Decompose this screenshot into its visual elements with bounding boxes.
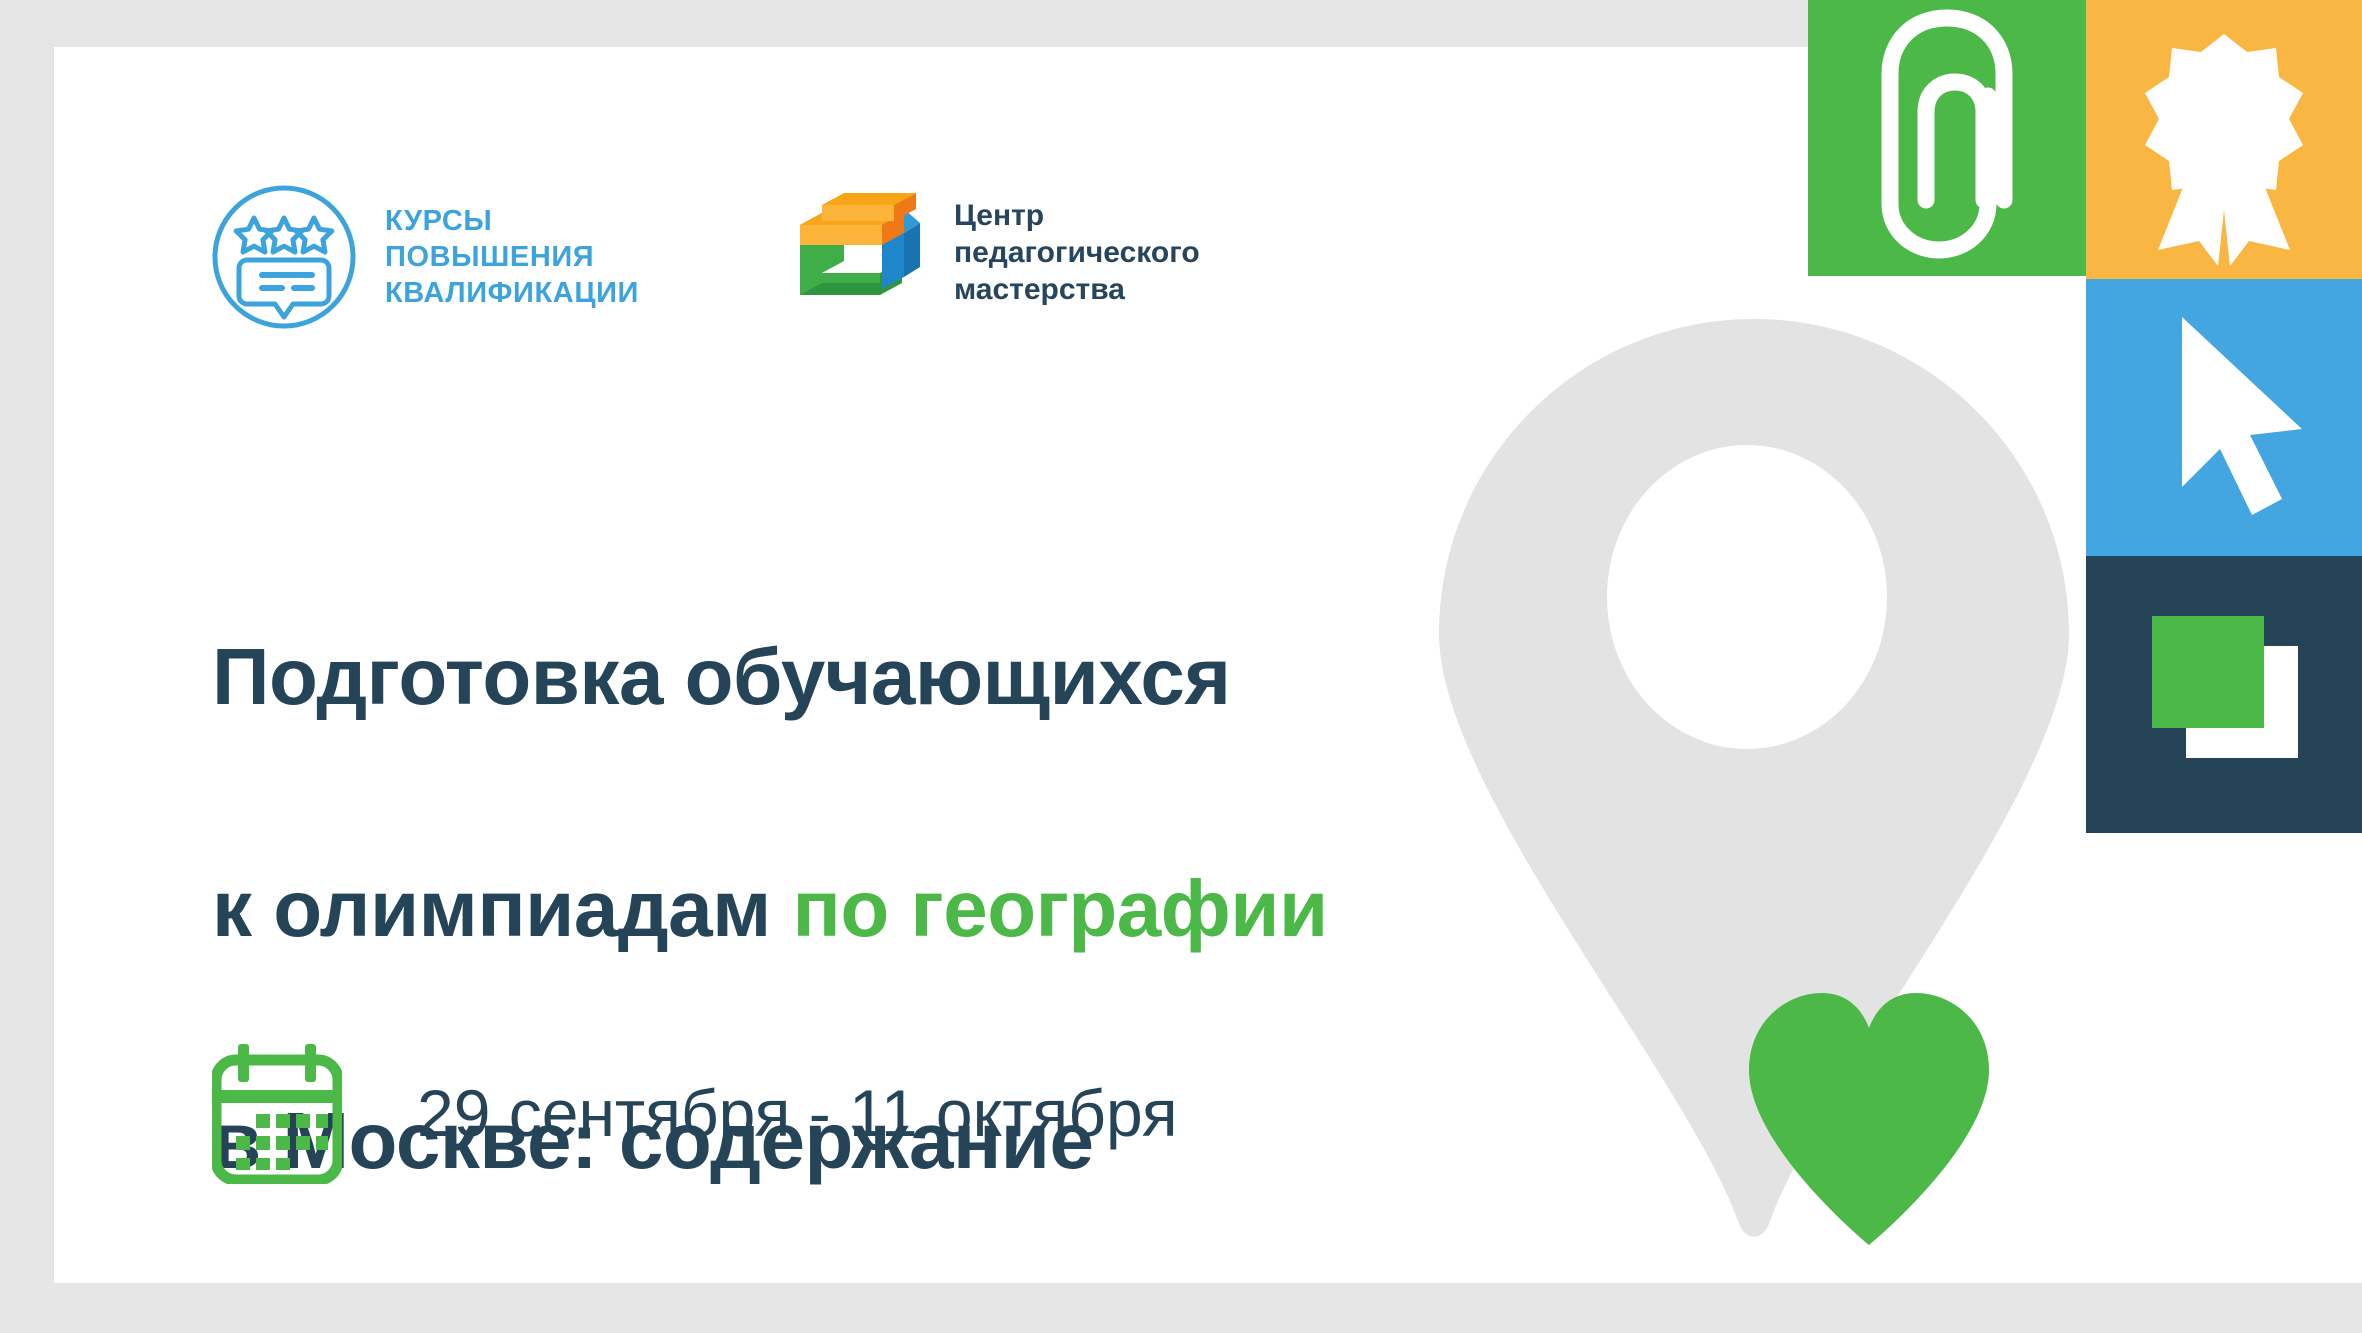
logo-courses: КУРСЫ ПОВЫШЕНИЯ КВАЛИФИКАЦИИ (209, 182, 639, 332)
award-ribbon-icon (2145, 34, 2303, 266)
headline-line-1: Подготовка обучающихся (212, 632, 1231, 721)
promo-poster: КУРСЫ ПОВЫШЕНИЯ КВАЛИФИКАЦИИ (0, 0, 2362, 1333)
calendar-icon (212, 1042, 342, 1184)
tile-cursor[interactable] (2086, 279, 2362, 556)
paperclip-icon (1890, 18, 2004, 250)
date-row: 29 сентября - 11 октября (212, 1042, 1178, 1184)
headline-accent: по географии (793, 864, 1328, 953)
copy-layers-icon (2152, 616, 2298, 758)
tile-copy[interactable] (2086, 556, 2362, 833)
stars-speech-bubble-badge-icon (209, 182, 359, 332)
heart-icon (1744, 987, 1994, 1247)
logo-center-label: Центр педагогического мастерства (954, 197, 1200, 308)
event-dates: 29 сентября - 11 октября (417, 1077, 1178, 1149)
cpm-isometric-monogram-icon (794, 187, 926, 317)
tile-paperclip[interactable] (1808, 0, 2086, 276)
logo-center: Центр педагогического мастерства (794, 187, 1200, 317)
logo-courses-label: КУРСЫ ПОВЫШЕНИЯ КВАЛИФИКАЦИИ (385, 203, 639, 311)
tile-award[interactable] (2086, 0, 2362, 279)
mouse-cursor-icon (2182, 317, 2302, 515)
headline-line-2-prefix: к олимпиадам (212, 864, 793, 953)
